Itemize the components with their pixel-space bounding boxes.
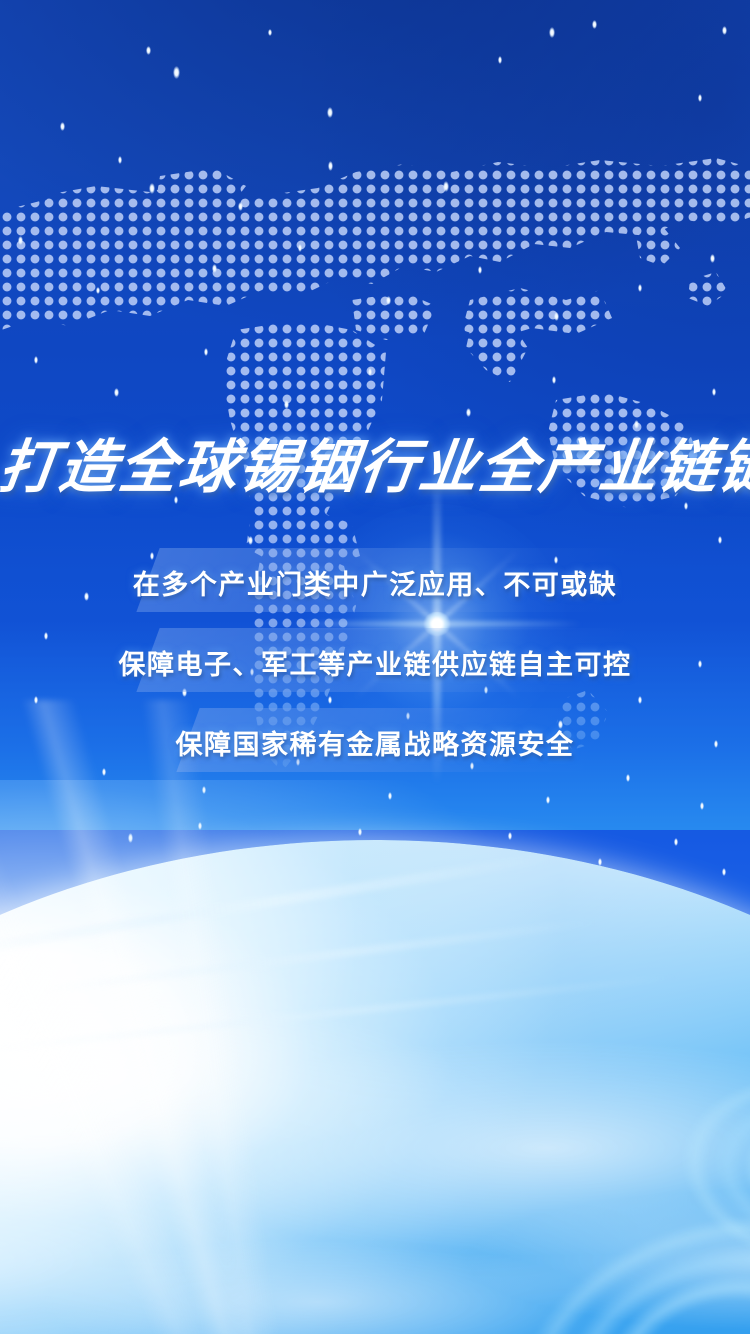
subtitle-line-1: 在多个产业门类中广泛应用、不可或缺 [0,563,750,602]
flare-core [423,612,451,636]
earth-horizon [0,840,750,1334]
subtitle-line-2: 保障电子、军工等产业链供应链自主可控 [0,643,750,682]
page-title: 打造全球锡铟行业全产业链链主 [0,420,750,504]
subtitle-line-3: 保障国家稀有金属战略资源安全 [0,723,750,762]
poster-canvas: 打造全球锡铟行业全产业链链主 在多个产业门类中广泛应用、不可或缺 保障电子、军工… [0,0,750,1334]
